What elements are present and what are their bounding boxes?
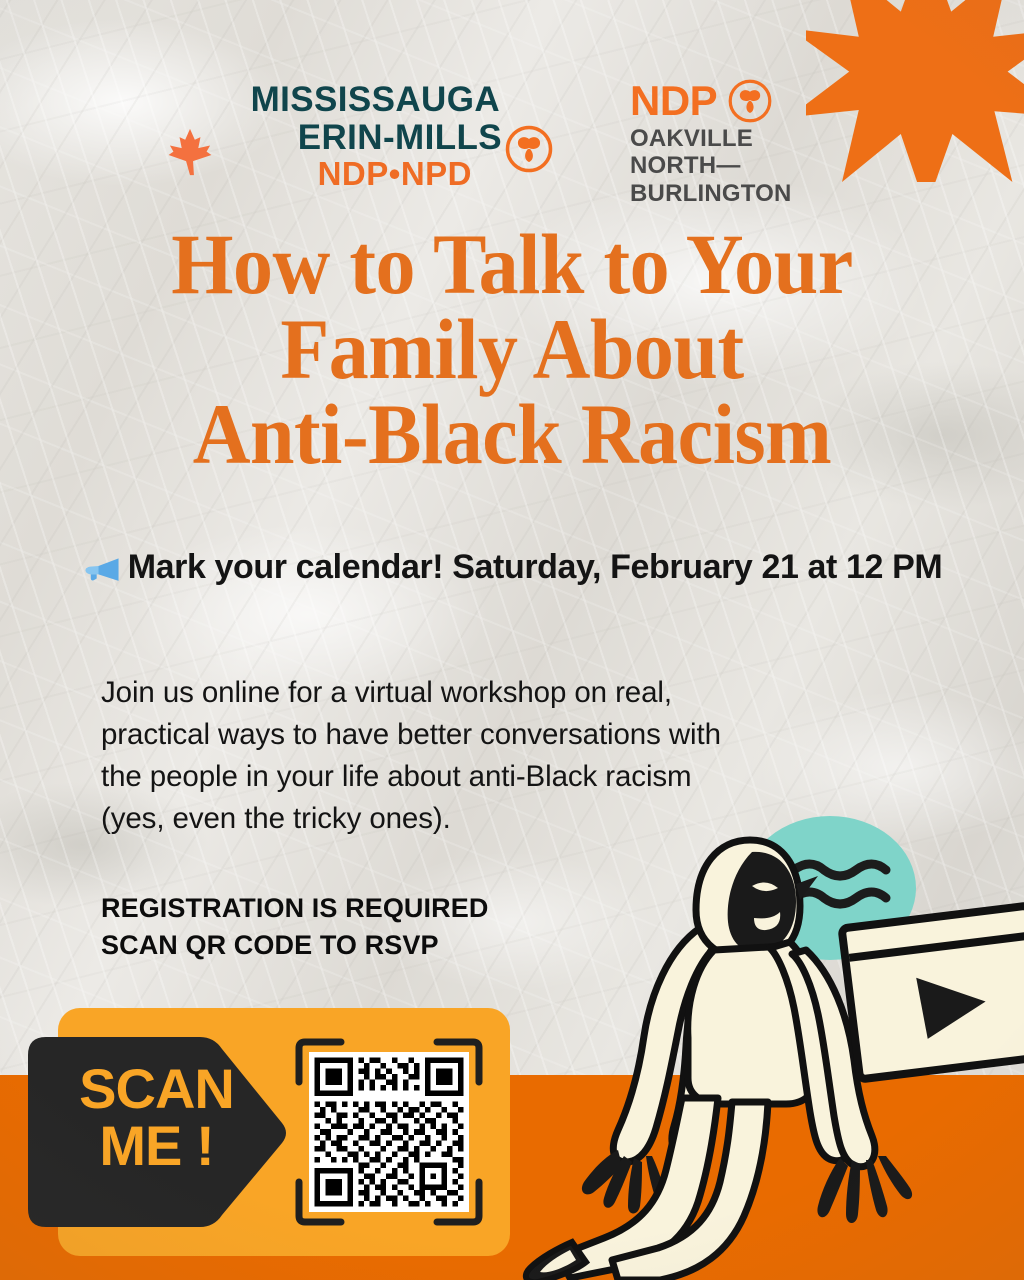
logo-mem-line3: NDP•NPD: [172, 157, 502, 190]
body-line-3: the people in your life about anti-Black…: [101, 756, 871, 798]
logo-oakville-north-burlington-ndp: NDP OAKVILLE NORTH— BURLINGTON: [630, 78, 850, 206]
ndp-trillium-icon: [727, 78, 773, 124]
logo-row: MISSISSAUGA ERIN-MILLS NDP•NPD NDP: [0, 70, 1024, 210]
logo-onb-sub-line1: OAKVILLE: [630, 127, 850, 151]
maple-leaf-icon: [168, 128, 212, 176]
poster: MISSISSAUGA ERIN-MILLS NDP•NPD NDP: [0, 0, 1024, 1280]
title-line-2: Family About: [36, 307, 988, 392]
logo-onb-sub-line2: NORTH—: [630, 154, 850, 178]
ndp-trillium-icon: [504, 124, 554, 174]
video-play-card-icon: [842, 906, 1024, 1080]
scan-me-badge: [24, 1033, 292, 1231]
logo-mem-line1: MISSISSAUGA: [172, 82, 502, 117]
qr-matrix: [309, 1052, 469, 1212]
event-dateline: Mark your calendar! Saturday, February 2…: [64, 546, 960, 589]
logo-onb-sub-line3: BURLINGTON: [630, 182, 850, 206]
body-line-1: Join us online for a virtual workshop on…: [101, 672, 871, 714]
rsvp-qr-code[interactable]: [295, 1038, 483, 1226]
title-line-1: How to Talk to Your: [36, 222, 988, 307]
logo-onb-ndp: NDP: [630, 81, 717, 121]
body-line-2: practical ways to have better conversati…: [101, 714, 871, 756]
logo-mississauga-erin-mills-ndp: MISSISSAUGA ERIN-MILLS NDP•NPD: [172, 82, 502, 190]
title-line-3: Anti-Black Racism: [36, 392, 988, 477]
seated-person-illustration: [500, 810, 1024, 1280]
scan-qr-card[interactable]: SCAN ME !: [58, 1008, 510, 1256]
event-dateline-text: Mark your calendar! Saturday, February 2…: [128, 548, 943, 586]
page-title: How to Talk to Your Family About Anti-Bl…: [36, 222, 988, 477]
megaphone-icon: [82, 556, 122, 582]
logo-mem-line2: ERIN-MILLS: [298, 120, 502, 155]
